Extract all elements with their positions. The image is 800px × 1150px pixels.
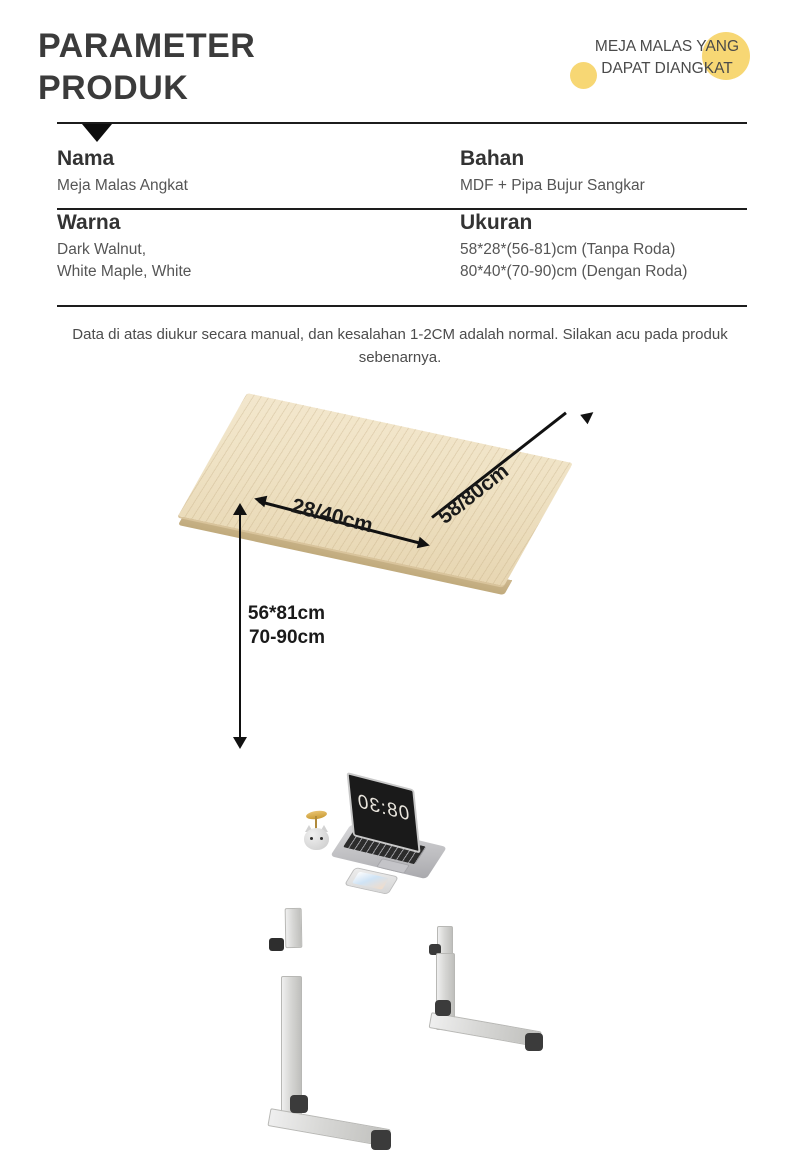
smartphone (355, 867, 401, 891)
height-dimension-label: 56*81cm 70-90cm (200, 602, 325, 650)
page-header: PARAMETER PRODUK MEJA MALAS YANG DAPAT D… (0, 0, 800, 120)
left-leg-adjust-knob (269, 938, 284, 951)
page-title: PARAMETER PRODUK (38, 26, 255, 110)
spec-value: Meja Malas Angkat (57, 175, 402, 197)
spec-cell-bahan: Bahan MDF + Pipa Bujur Sangkar (402, 146, 747, 208)
height-arrowhead-top-icon (233, 503, 247, 515)
header-divider (57, 122, 747, 124)
tabletop-surface (178, 393, 573, 586)
cat-eye-left-icon (310, 837, 313, 840)
caster-wheel (435, 1000, 451, 1016)
spec-value: MDF + Pipa Bujur Sangkar (460, 175, 747, 197)
specification-table: Nama Meja Malas Angkat Bahan MDF + Pipa … (57, 146, 747, 307)
smartphone-body (344, 867, 399, 895)
promo-badge: MEJA MALAS YANG DAPAT DIANGKAT (562, 32, 772, 92)
cat-eye-right-icon (320, 837, 323, 840)
table-divider (57, 305, 747, 307)
caster-wheel (371, 1130, 391, 1150)
spec-value: Dark Walnut, White Maple, White (57, 239, 402, 283)
spec-cell-warna: Warna Dark Walnut, White Maple, White (57, 210, 402, 305)
promo-text: MEJA MALAS YANG DAPAT DIANGKAT (562, 36, 772, 81)
table-row: Nama Meja Malas Angkat Bahan MDF + Pipa … (57, 146, 747, 208)
tabletop (247, 393, 587, 563)
spec-label: Nama (57, 146, 402, 172)
height-arrowhead-bottom-icon (233, 737, 247, 749)
laptop: 08:30 (345, 774, 455, 869)
cat-figurine-lamp (300, 810, 334, 852)
disclaimer-text: Data di atas diukur secara manual, dan k… (45, 324, 755, 369)
caster-wheel (290, 1095, 308, 1113)
cat-body (304, 828, 329, 850)
spec-label: Bahan (460, 146, 747, 172)
left-leg-upper-tube (285, 908, 303, 948)
smartphone-screen (352, 872, 389, 890)
table-row: Warna Dark Walnut, White Maple, White Uk… (57, 210, 747, 305)
spec-label: Warna (57, 210, 402, 236)
product-illustration: 08:30 (0, 378, 800, 800)
spec-cell-ukuran: Ukuran 58*28*(56-81)cm (Tanpa Roda) 80*4… (402, 210, 747, 305)
laptop-clock-display: 08:30 (350, 789, 416, 828)
spec-value: 58*28*(56-81)cm (Tanpa Roda) 80*40*(70-9… (460, 239, 747, 283)
spec-cell-nama: Nama Meja Malas Angkat (57, 146, 402, 208)
caster-wheel (525, 1033, 543, 1051)
down-triangle-icon (82, 124, 112, 142)
spec-label: Ukuran (460, 210, 747, 236)
